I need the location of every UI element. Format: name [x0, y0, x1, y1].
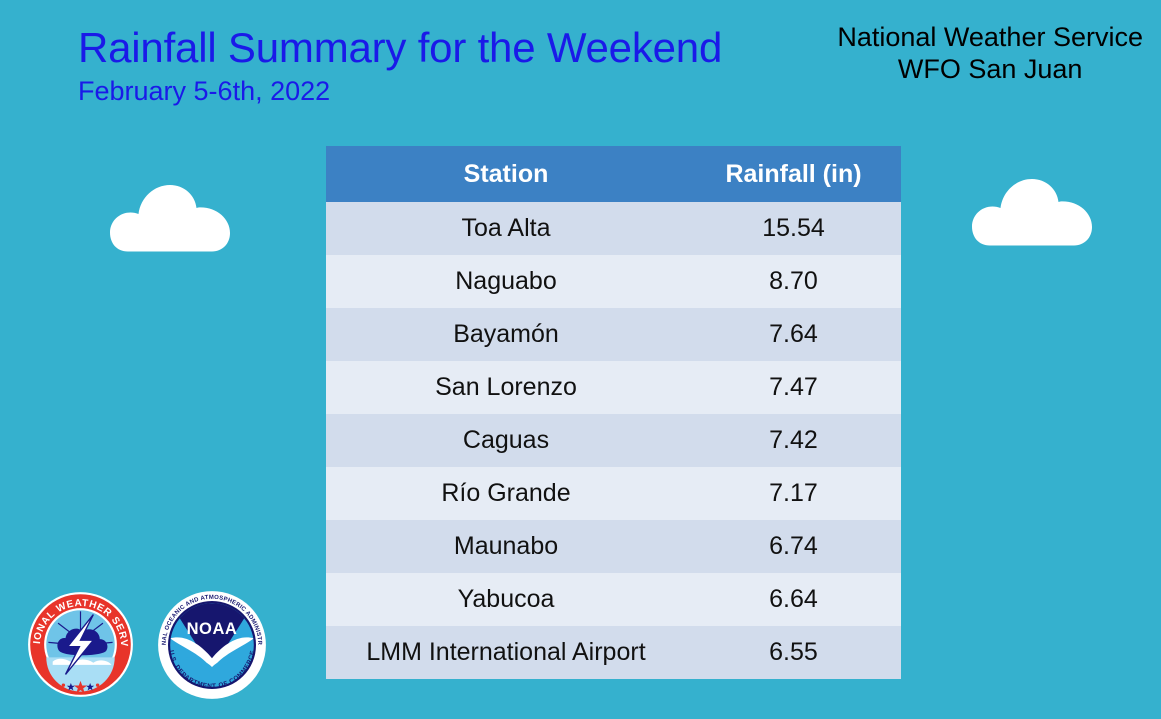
svg-text:NOAA: NOAA: [187, 620, 238, 638]
cell-rainfall: 7.42: [686, 414, 901, 467]
cell-station: Yabucoa: [326, 573, 686, 626]
page-subtitle: February 5-6th, 2022: [78, 76, 778, 107]
cell-rainfall: 6.74: [686, 520, 901, 573]
national-weather-service-logo: NATIONAL WEATHER SERVICE: [27, 591, 134, 698]
title-block: Rainfall Summary for the Weekend Februar…: [78, 26, 778, 107]
column-header-rainfall: Rainfall (in): [686, 146, 901, 202]
cell-rainfall: 7.64: [686, 308, 901, 361]
table-header-row: Station Rainfall (in): [326, 146, 901, 202]
cloud-icon: [107, 182, 233, 254]
page-title: Rainfall Summary for the Weekend: [78, 26, 778, 70]
table-row: Naguabo 8.70: [326, 255, 901, 308]
cell-rainfall: 7.47: [686, 361, 901, 414]
cell-station: Río Grande: [326, 467, 686, 520]
cell-station: Maunabo: [326, 520, 686, 573]
column-header-station: Station: [326, 146, 686, 202]
rainfall-table: Station Rainfall (in) Toa Alta 15.54 Nag…: [326, 146, 901, 679]
agency-block: National Weather Service WFO San Juan: [837, 22, 1143, 86]
table-row: Toa Alta 15.54: [326, 202, 901, 255]
table-row: Río Grande 7.17: [326, 467, 901, 520]
infographic-canvas: Rainfall Summary for the Weekend Februar…: [0, 0, 1161, 719]
cell-station: Toa Alta: [326, 202, 686, 255]
cell-station: San Lorenzo: [326, 361, 686, 414]
agency-name: National Weather Service: [837, 22, 1143, 54]
cloud-icon: [969, 176, 1095, 248]
cell-rainfall: 6.55: [686, 626, 901, 679]
cell-rainfall: 8.70: [686, 255, 901, 308]
table-row: Yabucoa 6.64: [326, 573, 901, 626]
cell-station: Naguabo: [326, 255, 686, 308]
table-row: San Lorenzo 7.47: [326, 361, 901, 414]
agency-office: WFO San Juan: [837, 54, 1143, 86]
cell-station: Caguas: [326, 414, 686, 467]
cell-rainfall: 6.64: [686, 573, 901, 626]
table-row: LMM International Airport 6.55: [326, 626, 901, 679]
table-row: Caguas 7.42: [326, 414, 901, 467]
table-row: Bayamón 7.64: [326, 308, 901, 361]
table-body: Toa Alta 15.54 Naguabo 8.70 Bayamón 7.64…: [326, 202, 901, 679]
table-row: Maunabo 6.74: [326, 520, 901, 573]
cell-rainfall: 15.54: [686, 202, 901, 255]
cell-rainfall: 7.17: [686, 467, 901, 520]
cell-station: LMM International Airport: [326, 626, 686, 679]
noaa-logo: NOAA NATIONAL OCEANIC AND ATMOSPHERIC AD…: [157, 590, 267, 700]
cell-station: Bayamón: [326, 308, 686, 361]
table-header: Station Rainfall (in): [326, 146, 901, 202]
